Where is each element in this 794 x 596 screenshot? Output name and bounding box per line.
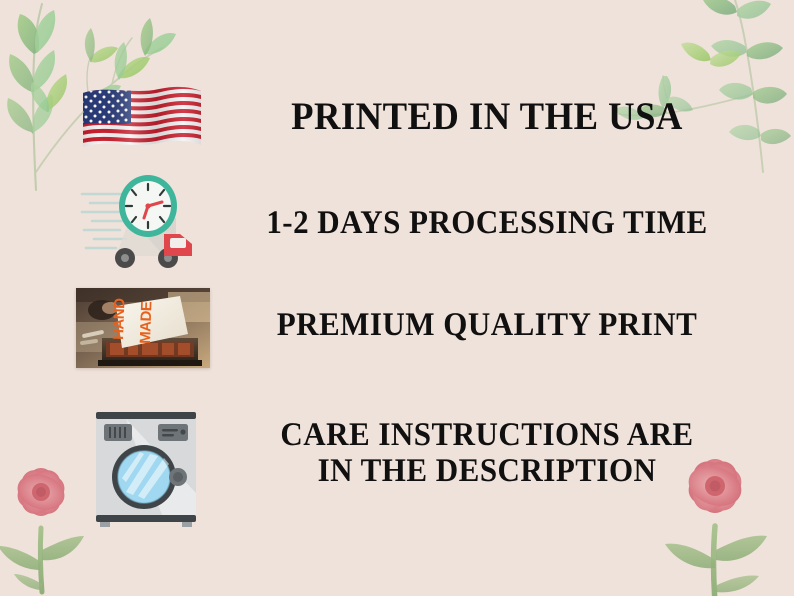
svg-text:MADE: MADE <box>137 301 155 344</box>
fast-delivery-truck-clock-icon <box>80 172 214 276</box>
feature-text-care-instructions: CARE INSTRUCTIONS ARE IN THE DESCRIPTION <box>238 418 736 489</box>
feature-icon-care-instructions <box>84 396 208 530</box>
svg-text:HAND: HAND <box>110 298 128 341</box>
feature-text-processing-time: 1-2 DAYS PROCESSING TIME <box>238 206 736 242</box>
us-flag-icon <box>75 79 207 167</box>
care-text-line-1: CARE INSTRUCTIONS ARE <box>238 418 736 454</box>
screen-print-photo: HAND MADE <box>76 288 210 368</box>
watercolor-branch-top-right-icon <box>613 0 794 175</box>
feature-icon-printed-in-usa <box>74 78 208 168</box>
washing-machine-icon <box>86 398 206 528</box>
feature-icon-premium-quality: HAND MADE <box>75 286 211 370</box>
feature-text-printed-in-usa: PRINTED IN THE USA <box>238 96 736 138</box>
feature-icon-processing-time <box>80 172 214 276</box>
promo-graphic: HAND MADE <box>0 0 794 596</box>
feature-text-premium-quality: PREMIUM QUALITY PRINT <box>238 308 736 344</box>
care-text-line-2: IN THE DESCRIPTION <box>238 454 736 490</box>
